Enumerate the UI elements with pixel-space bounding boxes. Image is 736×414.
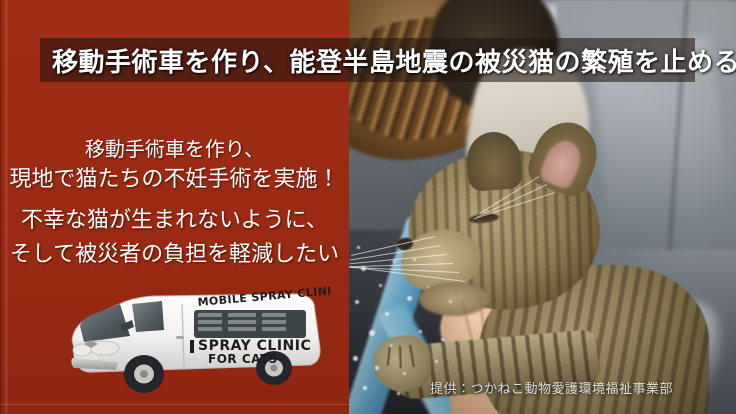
van-window-louvers [198,313,286,331]
jacket-speckle [413,258,416,261]
jacket-speckle [449,300,452,303]
panel-bottom-rule [0,404,349,405]
jacket-speckle [419,330,422,333]
jacket-speckle [353,356,358,361]
van-front-wheel [124,355,164,393]
mobile-clinic-van-image: MOBILE SPRAY CLINIC SPRAY CLINIC FOR CAT… [58,280,330,396]
jacket-speckle [389,344,392,347]
campaign-copy: 移動手術車を作り、 現地で猫たちの不妊手術を実施！ 不幸な猫が生まれないように、… [0,134,349,272]
jacket-speckle [393,260,396,263]
jacket-speckle [379,284,382,287]
banner-title-band: 移動手術車を作り、能登半島地震の被災猫の繁殖を止める！ [40,38,695,82]
jacket-speckle [369,330,375,336]
van-text-accent-bar [190,340,194,353]
jacket-speckle [385,312,389,316]
page-title: 移動手術車を作り、能登半島地震の被災猫の繁殖を止める！ [40,42,736,79]
jacket-speckle [427,286,429,288]
photo-credit: 提供：つかねこ動物愛護環境福祉事業部 [430,378,673,397]
jacket-speckle [397,392,400,395]
copy-line-2: 現地で猫たちの不妊手術を実施！ [0,164,349,196]
copy-line-1: 移動手術車を作り、 [0,134,349,164]
van-driver-window [132,301,164,332]
jacket-speckle [403,372,406,375]
van-side-text-2: FOR CATS [208,352,278,366]
jacket-speckle [441,338,444,341]
van-door-handle [176,336,184,339]
copy-line-4: そして被災者の負担を軽減したい [0,238,349,272]
jacket-speckle [357,246,360,249]
jacket-speckle [435,360,438,363]
jacket-speckle [363,386,367,390]
jacket-speckle [361,266,366,271]
copy-line-3: 不幸な猫が生まれないように、 [0,204,349,238]
jacket-speckle [407,296,412,301]
jacket-speckle [355,300,359,304]
jacket-speckle [375,366,379,370]
campaign-banner: 移動手術車を作り、 現地で猫たちの不妊手術を実施！ 不幸な猫が生まれないように、… [0,0,736,414]
